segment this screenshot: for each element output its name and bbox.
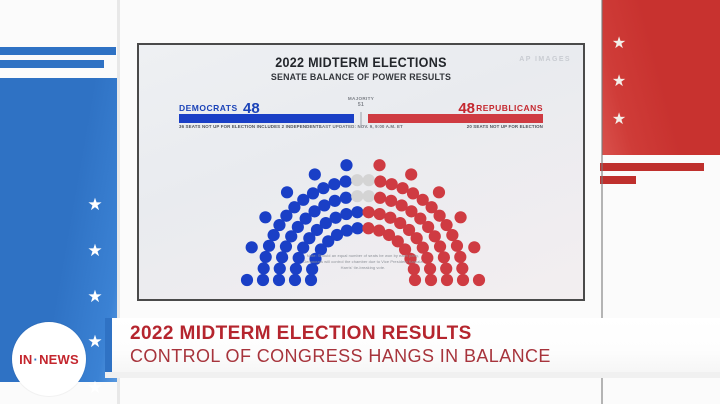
seat-dot — [409, 274, 421, 286]
seat-dot — [374, 208, 386, 220]
majority-text: MAJORITY — [348, 96, 374, 101]
seat-dot — [305, 274, 317, 286]
seat-dot — [340, 159, 352, 171]
seat-dot — [258, 262, 270, 274]
banner-bottom-strip — [105, 372, 720, 378]
seat-dot — [351, 190, 363, 202]
seat-dot — [341, 224, 353, 236]
tie-breaker-note: Note: Should an equal number of seats be… — [297, 253, 429, 271]
right-decor-bar-bottom — [600, 176, 636, 184]
right-star-column: ★ ★ ★ — [604, 36, 634, 128]
seat-dot — [473, 274, 485, 286]
balance-of-power-bar-block: DEMOCRATS 48 MAJORITY 51 48 REPUBLICANS … — [179, 97, 543, 131]
seat-dot — [329, 195, 341, 207]
star-icon: ★ — [87, 333, 102, 350]
seat-dot — [318, 199, 330, 211]
seat-dot — [351, 174, 363, 186]
seat-dot — [263, 240, 275, 252]
balance-bars — [179, 114, 543, 123]
seat-dot — [454, 211, 466, 223]
star-icon: ★ — [612, 112, 626, 128]
seat-dot — [276, 251, 288, 263]
seat-dot — [397, 182, 409, 194]
seat-dot — [274, 262, 286, 274]
logo-prefix: IN — [19, 352, 32, 367]
graphic-title: 2022 MIDTERM ELECTIONS — [164, 55, 558, 70]
majority-marker-label: MAJORITY 51 — [348, 96, 374, 108]
republicans-label: REPUBLICANS — [476, 103, 543, 113]
seat-dot — [405, 168, 417, 180]
banner-subheadline: CONTROL OF CONGRESS HANGS IN BALANCE — [130, 346, 720, 368]
graphic-subtitle: SENATE BALANCE OF POWER RESULTS — [164, 72, 558, 83]
left-decor-bar-bottom — [0, 60, 104, 68]
senate-seat-semicircle-chart: Note: Should an equal number of seats be… — [139, 137, 585, 287]
star-icon: ★ — [87, 242, 102, 259]
seat-dot — [433, 186, 445, 198]
seat-dot — [340, 192, 352, 204]
left-decor-bar-top — [0, 47, 116, 55]
seat-dot — [307, 187, 319, 199]
seat-dot — [362, 222, 374, 234]
seat-dot — [340, 208, 352, 220]
seat-dot — [273, 274, 285, 286]
democrats-label: DEMOCRATS — [179, 103, 238, 113]
bar-label-row: DEMOCRATS 48 MAJORITY 51 48 REPUBLICANS — [179, 97, 543, 112]
seat-dot — [385, 195, 397, 207]
star-icon: ★ — [612, 74, 626, 90]
lower-third-banner: 2022 MIDTERM ELECTION RESULTS CONTROL OF… — [105, 318, 720, 372]
network-logo-badge: IN·NEWS — [12, 322, 86, 396]
star-icon: ★ — [87, 288, 102, 305]
seat-dot — [446, 229, 458, 241]
right-decor-bar-top — [600, 163, 704, 171]
seat-dot — [438, 251, 450, 263]
seat-dot — [440, 262, 452, 274]
seat-dot — [241, 274, 253, 286]
seat-dot — [259, 211, 271, 223]
broadcast-stage: ★ ★ ★ ★ ★ ★ ★ ★ AP IMAGES 2022 MIDTERM E… — [0, 0, 720, 404]
senate-balance-graphic-card: AP IMAGES 2022 MIDTERM ELECTIONS SENATE … — [137, 43, 585, 301]
seat-dot — [457, 274, 469, 286]
seat-dot — [309, 168, 321, 180]
seat-dot — [246, 241, 258, 253]
republicans-bar — [368, 114, 543, 123]
star-icon: ★ — [87, 196, 102, 213]
seat-dot — [374, 175, 386, 187]
seat-dot — [351, 222, 363, 234]
seat-dot — [330, 212, 342, 224]
bar-footnote-row: 36 SEATS NOT UP FOR ELECTION INCLUDES 2 … — [179, 124, 543, 138]
seat-dot — [260, 251, 272, 263]
seat-dot — [363, 190, 375, 202]
democrats-footnote: 36 SEATS NOT UP FOR ELECTION INCLUDES 2 … — [179, 124, 322, 130]
seat-dot — [468, 241, 480, 253]
seat-dot — [363, 174, 375, 186]
seat-dot — [317, 182, 329, 194]
last-updated-text: LAST UPDATED: NOV. 9, 9:00 A.M. ET — [319, 124, 403, 129]
democrats-bar — [179, 114, 354, 123]
seat-dot — [289, 274, 301, 286]
graphic-card-inner: AP IMAGES 2022 MIDTERM ELECTIONS SENATE … — [139, 45, 583, 299]
seat-dot — [351, 206, 363, 218]
republicans-footnote: 20 SEATS NOT UP FOR ELECTION — [467, 124, 543, 130]
seat-dot — [386, 178, 398, 190]
seat-dot — [425, 274, 437, 286]
seat-dot — [257, 274, 269, 286]
seat-dot — [456, 262, 468, 274]
seat-dot — [374, 192, 386, 204]
seat-dot — [281, 186, 293, 198]
majority-threshold-value: 51 — [348, 102, 374, 108]
star-icon: ★ — [612, 36, 626, 52]
logo-suffix: NEWS — [39, 352, 79, 367]
seat-dot — [454, 251, 466, 263]
seat-dot — [434, 240, 446, 252]
seat-dot — [340, 175, 352, 187]
logo-text: IN·NEWS — [19, 352, 79, 367]
seat-dot — [441, 274, 453, 286]
star-icon: ★ — [87, 379, 102, 396]
seat-dot — [328, 178, 340, 190]
banner-headline: 2022 MIDTERM ELECTION RESULTS — [130, 323, 720, 345]
right-red-panel: ★ ★ ★ — [602, 0, 720, 155]
seat-dot — [363, 206, 375, 218]
seat-dot — [451, 240, 463, 252]
seat-dot — [373, 159, 385, 171]
